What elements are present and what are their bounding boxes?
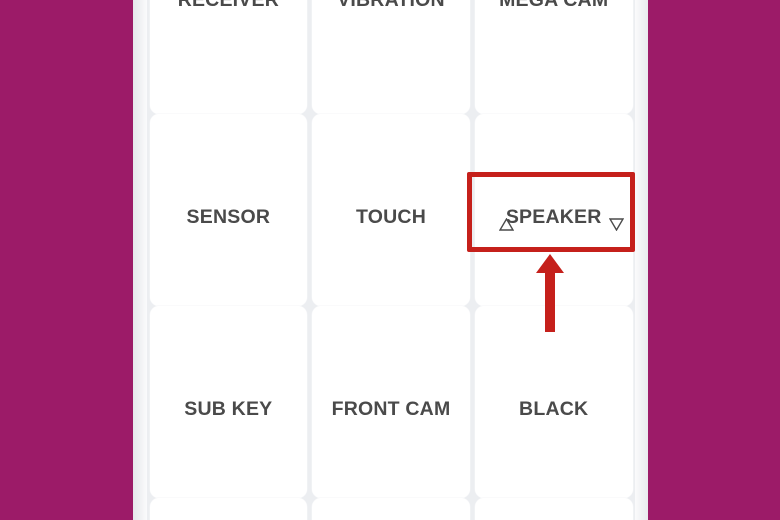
grid-row [147, 498, 635, 520]
test-cell-row4-col2[interactable] [312, 498, 470, 520]
test-cell-label: MEGA CAM [475, 0, 633, 12]
grid-row: SENSOR TOUCH SPEAKER [147, 114, 635, 306]
test-cell-row4-col1[interactable] [150, 498, 308, 520]
test-cell-sensor[interactable]: SENSOR [150, 114, 308, 306]
test-cell-speaker[interactable]: SPEAKER [475, 114, 633, 306]
test-cell-receiver[interactable]: RECEIVER [150, 0, 308, 114]
test-cell-label: TOUCH [312, 206, 470, 229]
test-cell-row4-col3[interactable] [475, 498, 633, 520]
test-cell-label: SPEAKER [506, 206, 602, 229]
test-cell-black[interactable]: BLACK [475, 306, 633, 498]
test-cell-front-cam[interactable]: FRONT CAM [312, 306, 470, 498]
screen-edge-right [635, 0, 648, 520]
screen-edge-left [133, 0, 147, 520]
phone-screen: RECEIVER VIBRATION MEGA CAM SENSOR TOUCH [133, 0, 648, 520]
grid-row: SUB KEY FRONT CAM BLACK [147, 306, 635, 498]
background-band-right [648, 0, 780, 520]
background-band-left [0, 0, 133, 520]
grid-row: RECEIVER VIBRATION MEGA CAM [147, 0, 635, 114]
test-cell-label: FRONT CAM [312, 398, 470, 421]
test-cell-label: BLACK [475, 398, 633, 421]
test-cell-touch[interactable]: TOUCH [312, 114, 470, 306]
hardware-test-grid: RECEIVER VIBRATION MEGA CAM SENSOR TOUCH [147, 0, 635, 520]
test-cell-sub-key[interactable]: SUB KEY [150, 306, 308, 498]
test-cell-vibration[interactable]: VIBRATION [312, 0, 470, 114]
test-cell-label: SUB KEY [150, 398, 308, 421]
test-cell-label-group: SPEAKER [475, 206, 633, 229]
test-cell-label: SENSOR [150, 206, 308, 229]
test-cell-label: VIBRATION [312, 0, 470, 12]
screenshot-root: RECEIVER VIBRATION MEGA CAM SENSOR TOUCH [0, 0, 780, 520]
test-cell-mega-cam[interactable]: MEGA CAM [475, 0, 633, 114]
test-cell-label: RECEIVER [150, 0, 308, 12]
